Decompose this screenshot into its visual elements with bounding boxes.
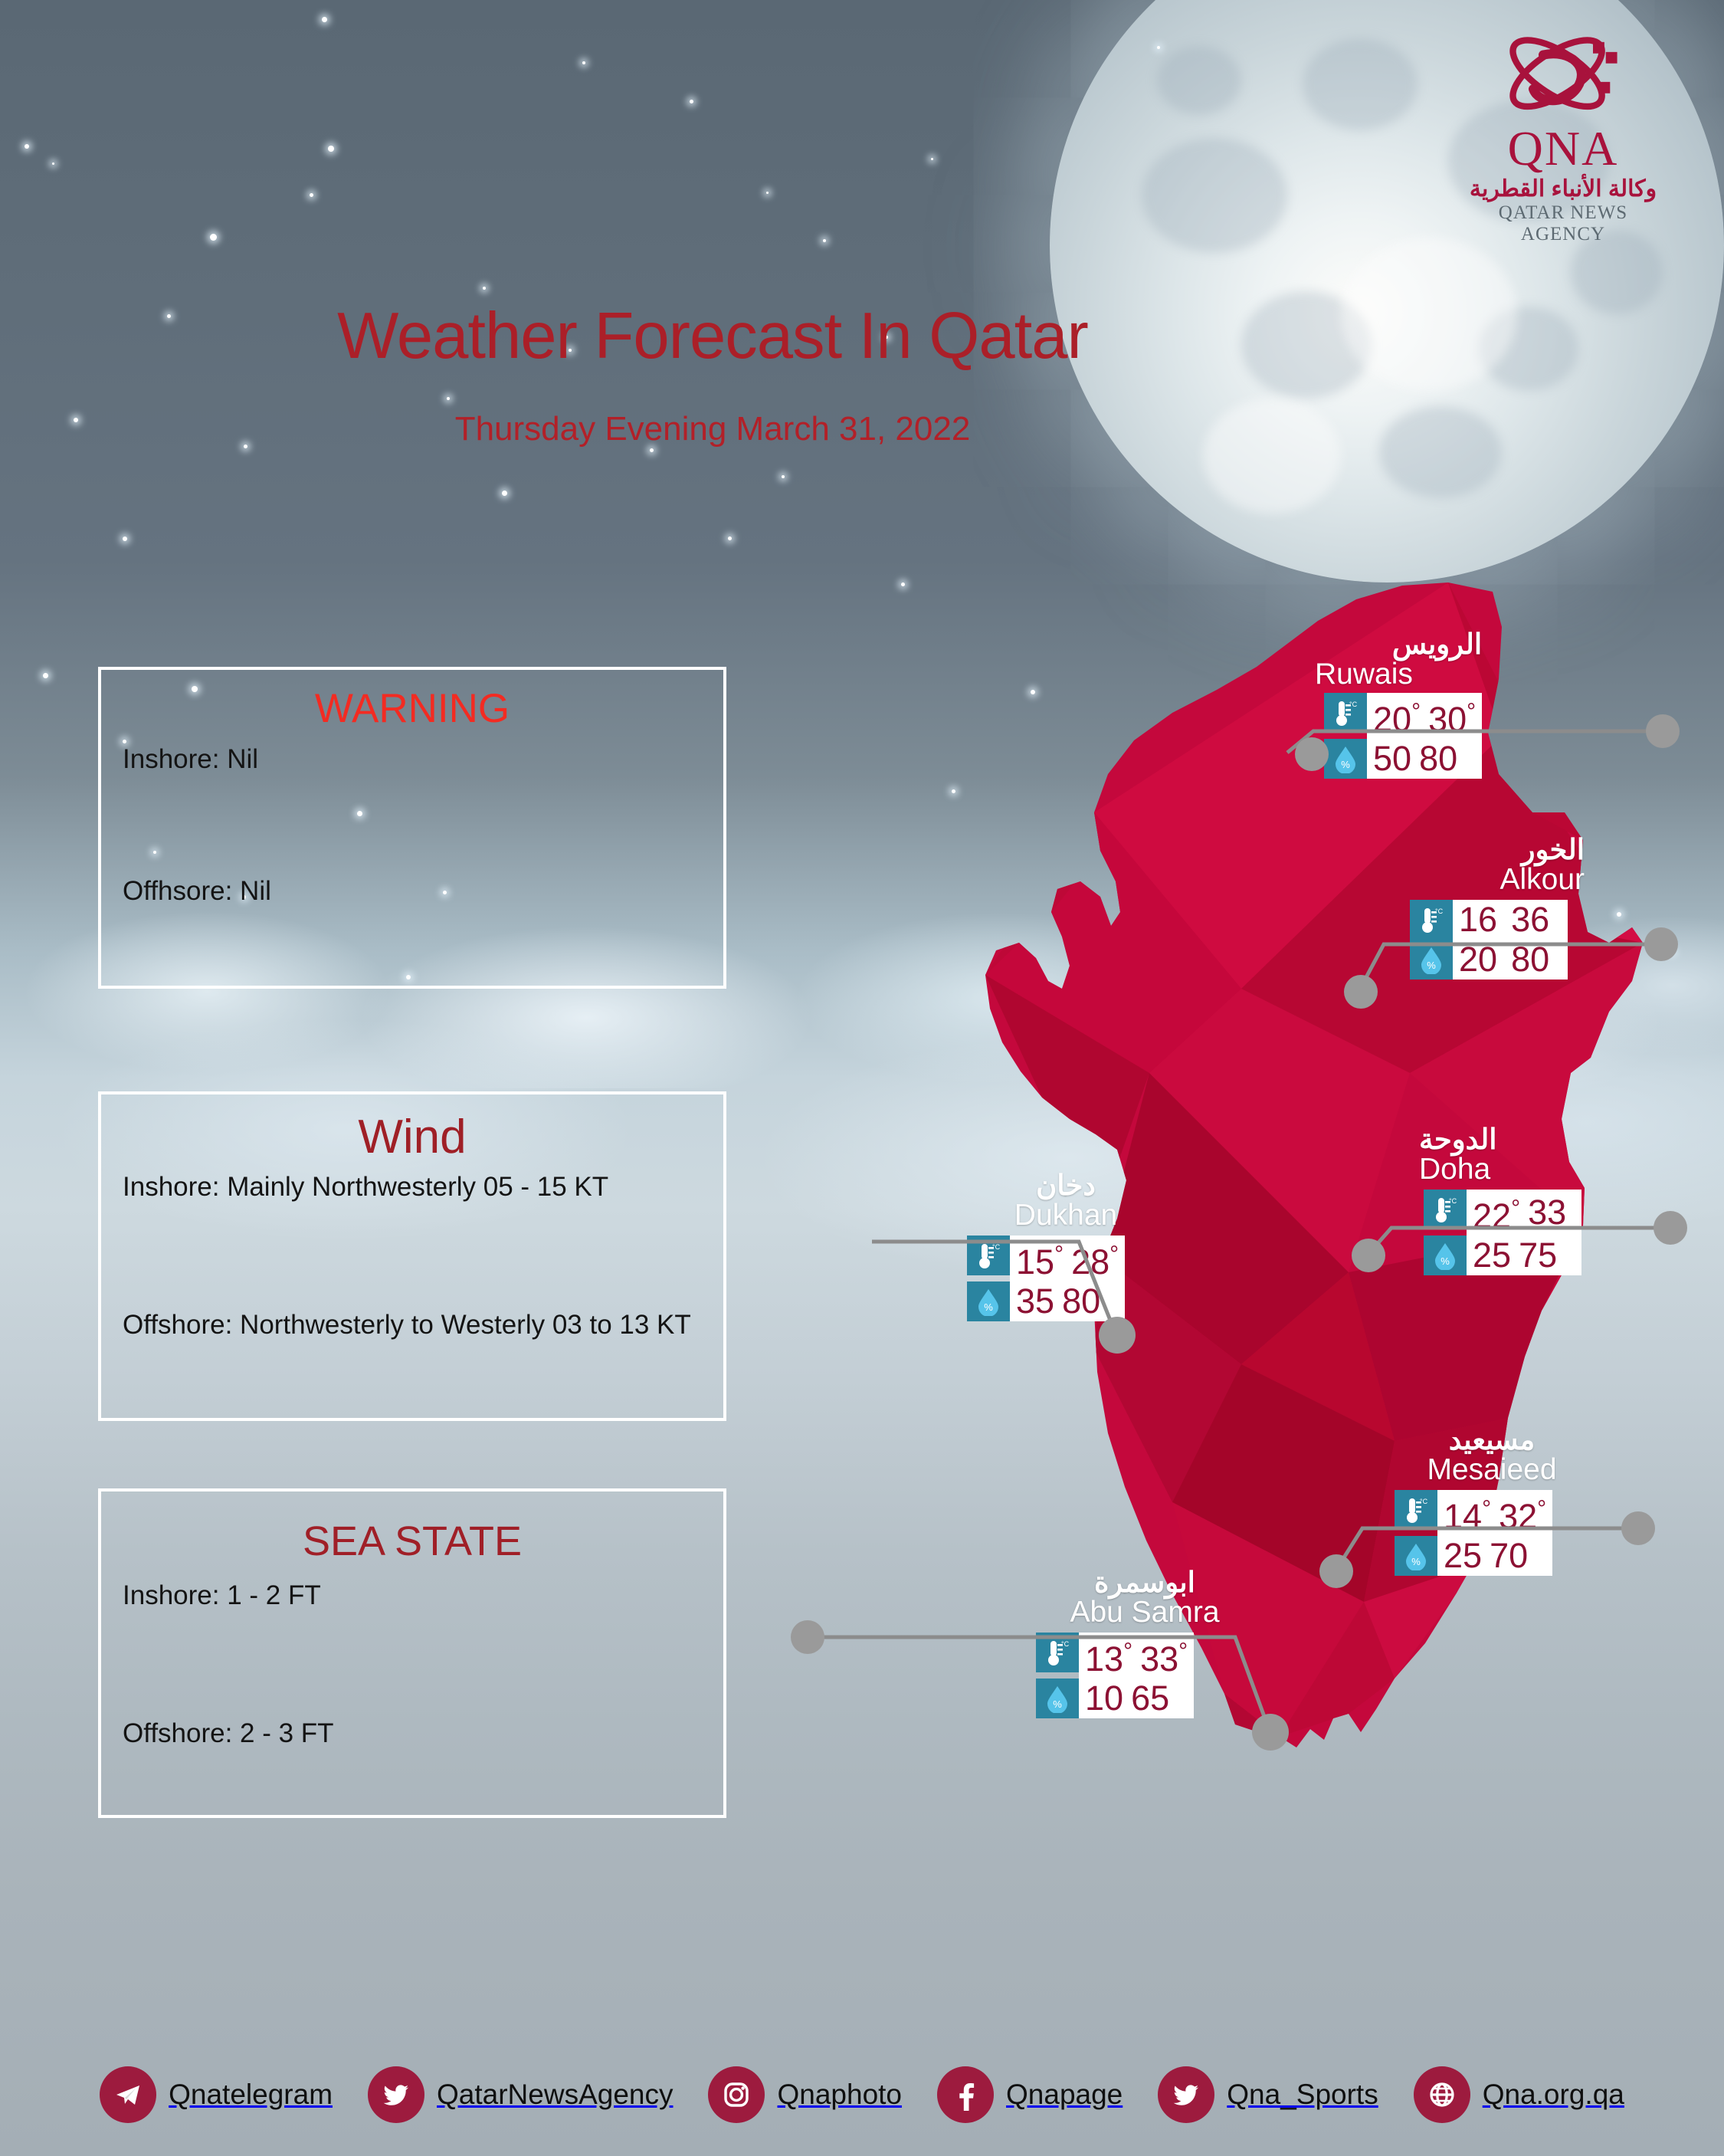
social-link-instagram[interactable]: Qnaphoto	[708, 2066, 902, 2123]
telegram-icon	[100, 2066, 156, 2123]
social-link-facebook[interactable]: Qnapage	[937, 2066, 1123, 2123]
sea-state-inshore: Inshore: 1 - 2 FT	[123, 1579, 702, 1613]
sea-state-offshore: Offshore: 2 - 3 FT	[123, 1717, 702, 1751]
instagram-icon	[708, 2066, 765, 2123]
leader-line-alkour	[1355, 884, 1676, 999]
city-callout-dukhan[interactable]: دخان Dukhan °C 15 28	[949, 1171, 1146, 1321]
warning-offshore: Offhsore: Nil	[123, 875, 702, 908]
city-name-ar: الخور	[1424, 835, 1585, 865]
city-callout-alkour[interactable]: الخور Alkour °C 16 36	[1372, 835, 1585, 980]
wind-offshore: Offshore: Northwesterly to Westerly 03 t…	[123, 1308, 702, 1342]
social-handle: Qnapage	[1006, 2079, 1123, 2111]
qna-logo: QNA وكالة الأنباء القطرية QATAR NEWS AGE…	[1456, 31, 1670, 245]
sea-state-title: SEA STATE	[123, 1518, 702, 1565]
qna-atom-icon	[1490, 31, 1636, 130]
sea-state-panel: SEA STATE Inshore: 1 - 2 FT Offshore: 2 …	[98, 1488, 726, 1818]
city-callout-mesaieed[interactable]: مسيعيد Mesaieed °C 14 32	[1349, 1426, 1595, 1576]
qna-wordmark: QNA	[1456, 126, 1670, 172]
globe-icon	[1414, 2066, 1470, 2123]
social-link-twitter-sports[interactable]: Qna_Sports	[1158, 2066, 1378, 2123]
social-footer: Qnatelegram QatarNewsAgency Qnaphoto	[0, 2045, 1724, 2145]
leader-line-dukhan	[872, 1219, 1194, 1357]
social-link-twitter-main[interactable]: QatarNewsAgency	[368, 2066, 673, 2123]
social-link-telegram[interactable]: Qnatelegram	[100, 2066, 333, 2123]
page-title: Weather Forecast In Qatar	[253, 299, 1172, 374]
warning-inshore: Inshore: Nil	[123, 743, 702, 776]
wind-title: Wind	[123, 1110, 702, 1164]
city-name-ar: مسيعيد	[1388, 1426, 1595, 1455]
twitter-icon	[1158, 2066, 1214, 2123]
social-link-website[interactable]: Qna.org.qa	[1414, 2066, 1624, 2123]
city-name-ar: الرويس	[1315, 630, 1482, 659]
social-handle: Qnaphoto	[777, 2079, 902, 2111]
leader-line-ruwais	[1280, 676, 1678, 760]
wind-panel: Wind Inshore: Mainly Northwesterly 05 - …	[98, 1091, 726, 1421]
city-callout-doha[interactable]: الدوحة Doha °C 22 33	[1379, 1125, 1595, 1275]
poster-canvas: Weather Forecast In Qatar Thursday Eveni…	[0, 0, 1724, 2156]
qna-arabic-name: وكالة الأنباء القطرية	[1456, 176, 1670, 202]
city-name-ar: دخان	[985, 1171, 1146, 1200]
city-callout-ruwais[interactable]: الرويس Ruwais °C 20 30	[1287, 630, 1482, 779]
leader-line-doha	[1364, 1173, 1686, 1265]
warning-title: WARNING	[123, 685, 702, 732]
social-handle: Qna.org.qa	[1483, 2079, 1624, 2111]
leader-line-mesaieed	[1332, 1473, 1654, 1580]
facebook-icon	[937, 2066, 994, 2123]
city-callout-abu-samra[interactable]: ابوسمرة Abu Samra °C 13 33	[1025, 1568, 1244, 1718]
leader-line-abu-samra	[795, 1617, 1286, 1763]
city-name-ar: الدوحة	[1419, 1125, 1595, 1154]
wind-inshore: Inshore: Mainly Northwesterly 05 - 15 KT	[123, 1170, 702, 1204]
social-handle: QatarNewsAgency	[437, 2079, 673, 2111]
page-subtitle: Thursday Evening March 31, 2022	[253, 410, 1172, 448]
twitter-icon	[368, 2066, 424, 2123]
social-handle: Qna_Sports	[1227, 2079, 1378, 2111]
warning-panel: WARNING Inshore: Nil Offhsore: Nil	[98, 667, 726, 989]
city-name-ar: ابوسمرة	[1045, 1568, 1244, 1597]
social-handle: Qnatelegram	[169, 2079, 333, 2111]
qna-english-name: QATAR NEWS AGENCY	[1456, 202, 1670, 245]
